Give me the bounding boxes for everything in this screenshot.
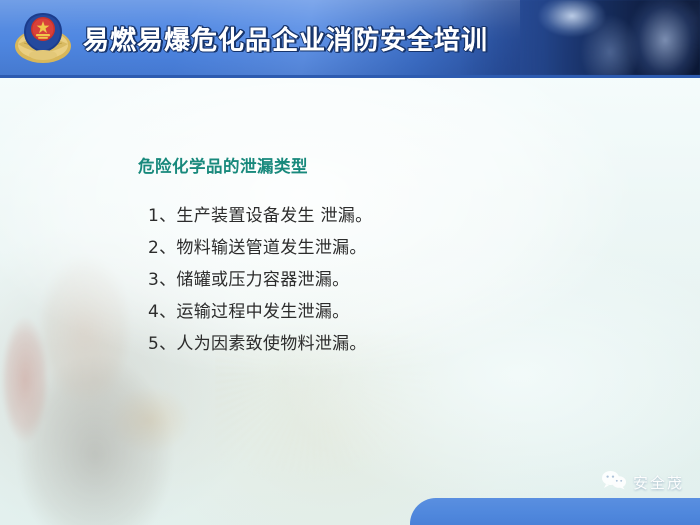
banner-title: 易燃易爆危化品企业消防安全培训 (83, 20, 488, 57)
list-item: 5、人为因素致使物料泄漏。 (148, 328, 578, 360)
list-item: 2、物料输送管道发生泄漏。 (148, 232, 578, 264)
bottom-decorative-band (410, 498, 700, 525)
firefighters-photo (460, 0, 700, 75)
page-title: 危险化学品的泄漏类型 (138, 153, 308, 177)
wechat-watermark: 安全茂 (601, 470, 684, 495)
list-item: 4、运输过程中发生泄漏。 (148, 296, 578, 328)
slide-content: 危险化学品的泄漏类型 1、生产装置设备发生 泄漏。 2、物料输送管道发生泄漏。 … (0, 75, 700, 525)
leak-type-list: 1、生产装置设备发生 泄漏。 2、物料输送管道发生泄漏。 3、储罐或压力容器泄漏… (148, 200, 578, 360)
watermark-label: 安全茂 (633, 472, 684, 493)
police-fire-emblem-icon (14, 10, 72, 66)
list-item: 1、生产装置设备发生 泄漏。 (148, 200, 578, 232)
slide: 易燃易爆危化品企业消防安全培训 危险化学品的泄漏类型 1、生产装置设备发生 泄漏… (0, 0, 700, 525)
header-banner: 易燃易爆危化品企业消防安全培训 (0, 0, 700, 78)
wechat-icon (601, 470, 627, 495)
list-item: 3、储罐或压力容器泄漏。 (148, 264, 578, 296)
